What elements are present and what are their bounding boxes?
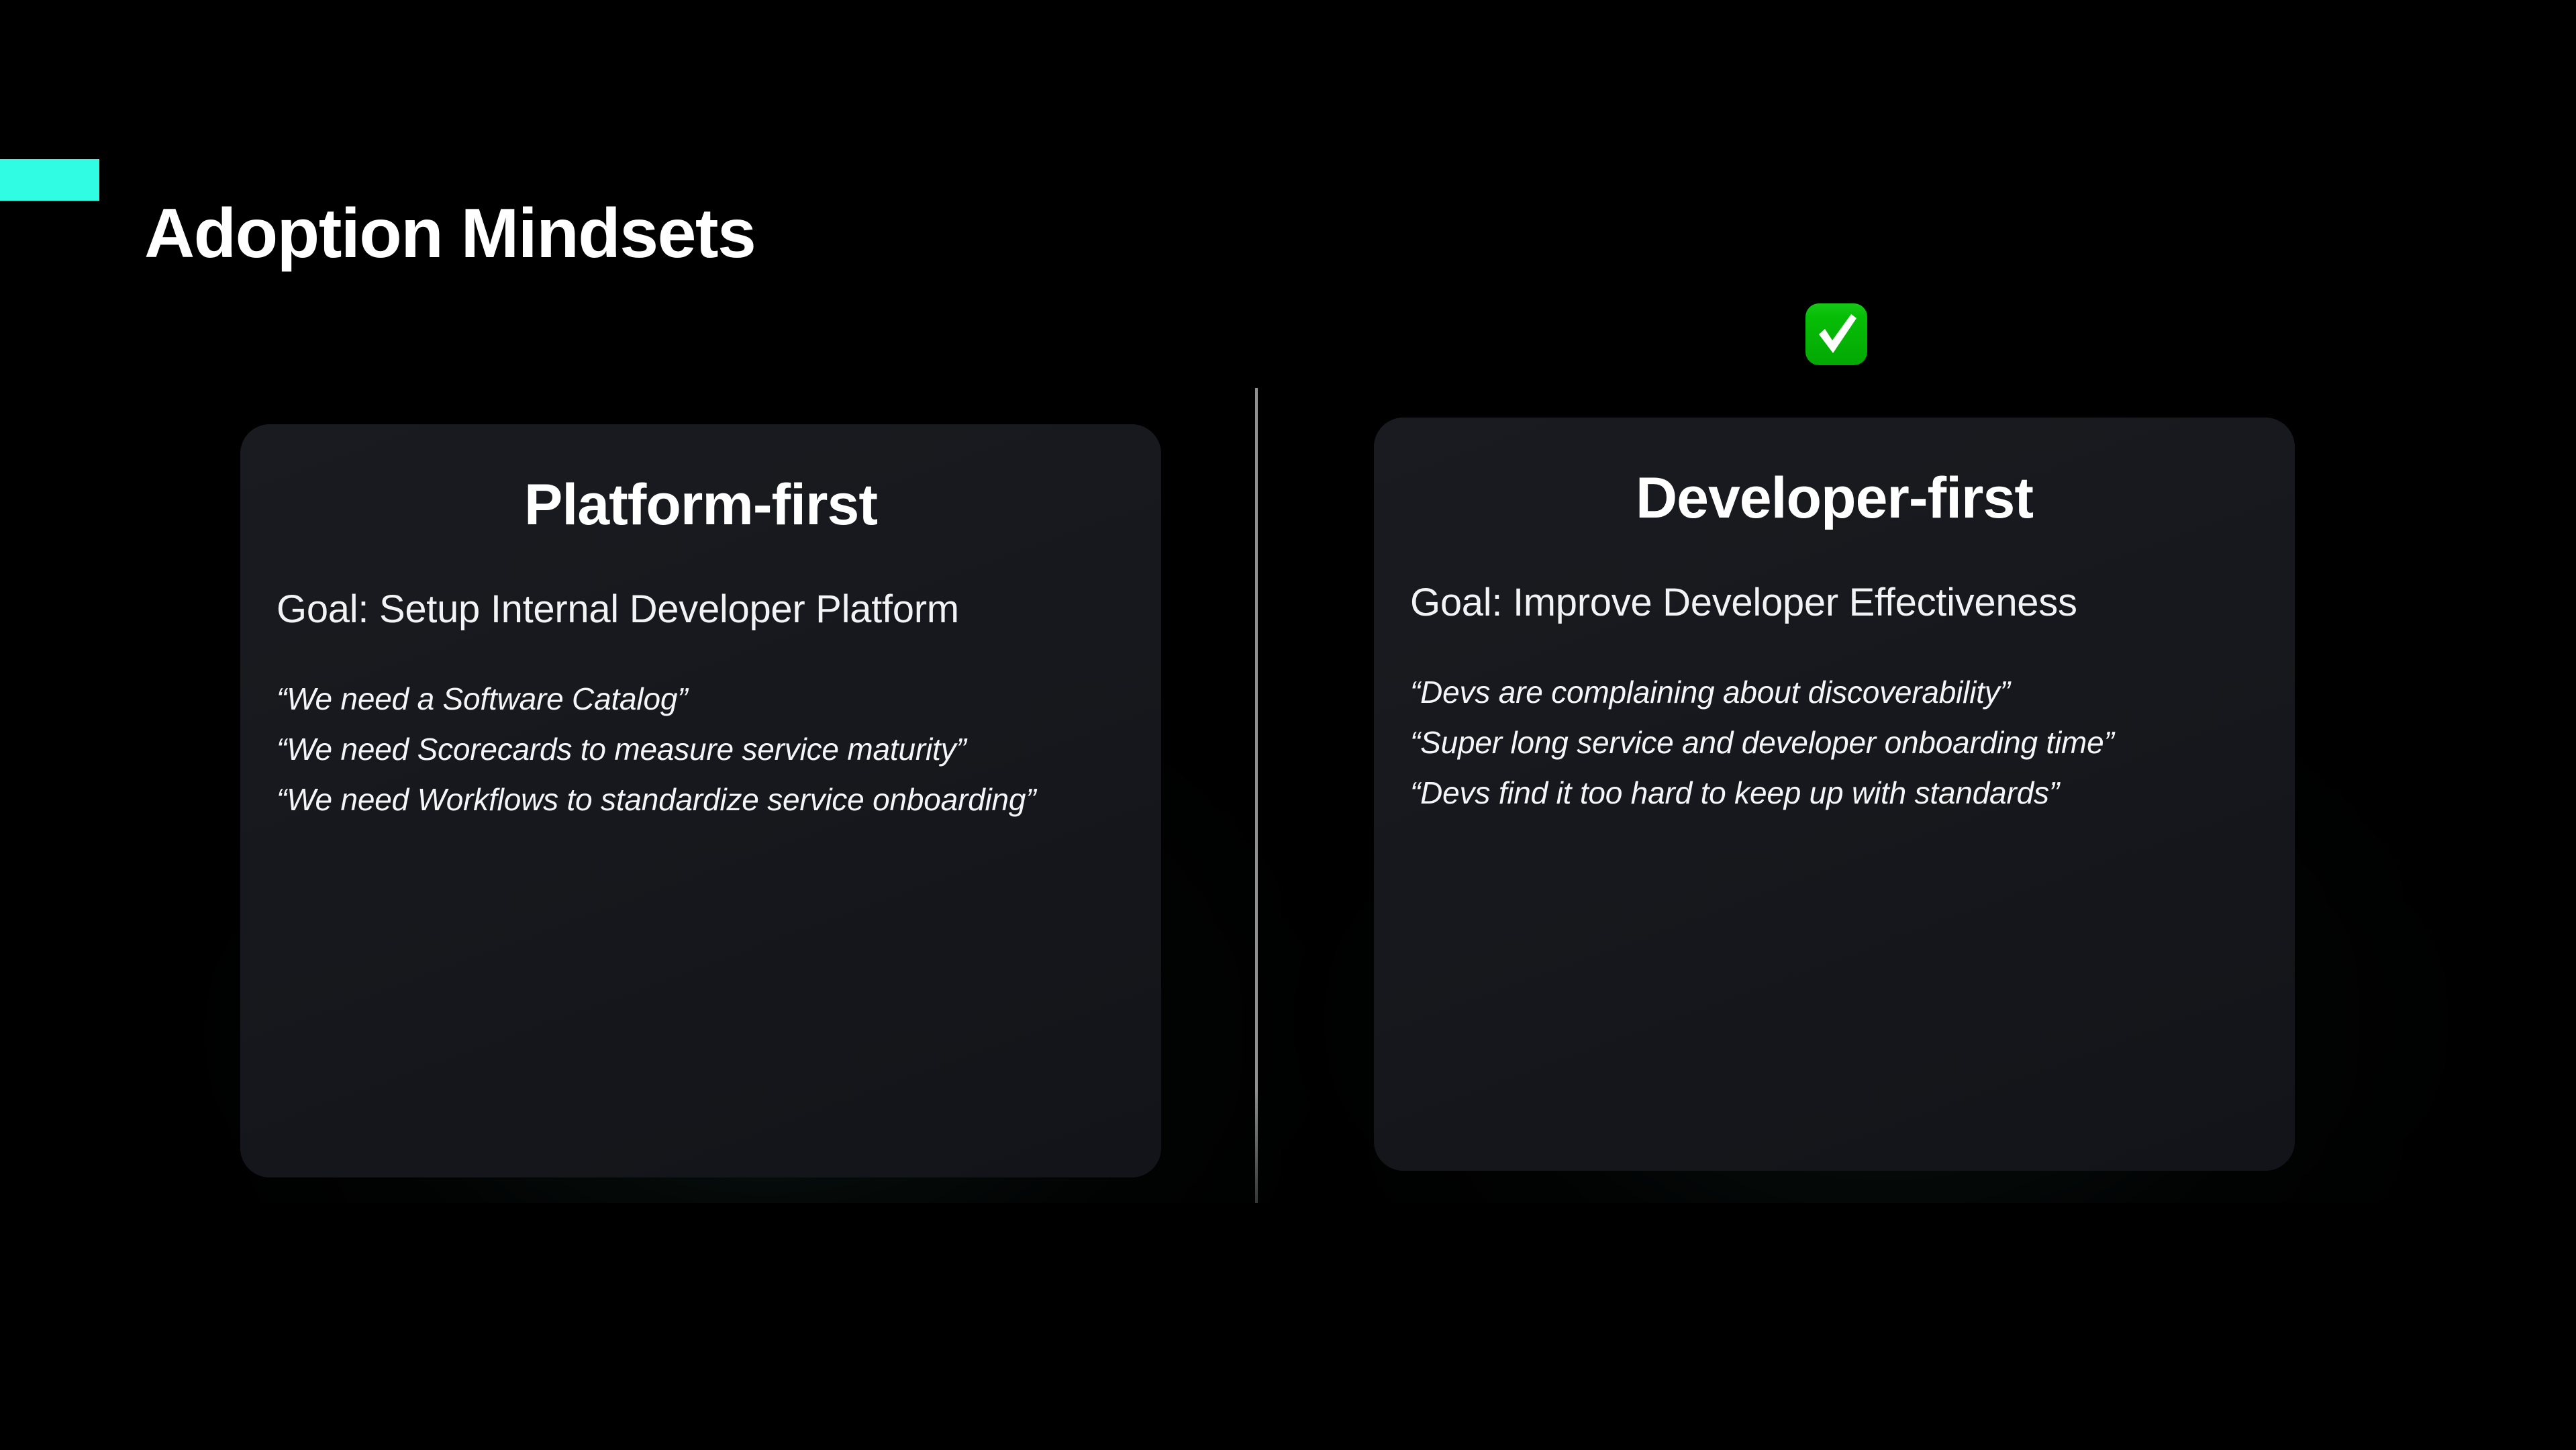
quote-item: “Devs are complaining about discoverabil… [1410,667,2259,718]
card-developer-first-body: Developer-first Goal: Improve Developer … [1374,418,2295,1171]
accent-bar [0,159,99,201]
quote-item: “Devs find it too hard to keep up with s… [1410,768,2259,818]
card-platform-first-title: Platform-first [277,424,1125,540]
card-developer-first-goal: Goal: Improve Developer Effectiveness [1410,533,2259,638]
vertical-divider [1255,388,1258,1203]
card-platform-first-body: Platform-first Goal: Setup Internal Deve… [240,424,1161,1177]
card-platform-first[interactable]: Platform-first Goal: Setup Internal Deve… [240,424,1161,1177]
quote-item: “We need Workflows to standardize servic… [277,775,1125,825]
page-title: Adoption Mindsets [144,193,755,274]
check-mark-icon [1804,302,1869,367]
quote-item: “We need a Software Catalog” [277,674,1125,724]
card-developer-first-quotes: “Devs are complaining about discoverabil… [1410,638,2259,818]
card-developer-first[interactable]: Developer-first Goal: Improve Developer … [1374,418,2295,1171]
card-developer-first-title: Developer-first [1410,418,2259,533]
quote-item: “We need Scorecards to measure service m… [277,724,1125,775]
quote-item: “Super long service and developer onboar… [1410,718,2259,768]
slide-root: Adoption Mindsets Platform-firs [0,0,2576,1450]
slide-header: Adoption Mindsets [0,146,2576,227]
slide-canvas: Adoption Mindsets Platform-firs [0,0,2576,1203]
card-platform-first-goal: Goal: Setup Internal Developer Platform [277,540,1125,644]
card-platform-first-quotes: “We need a Software Catalog” “We need Sc… [277,644,1125,825]
